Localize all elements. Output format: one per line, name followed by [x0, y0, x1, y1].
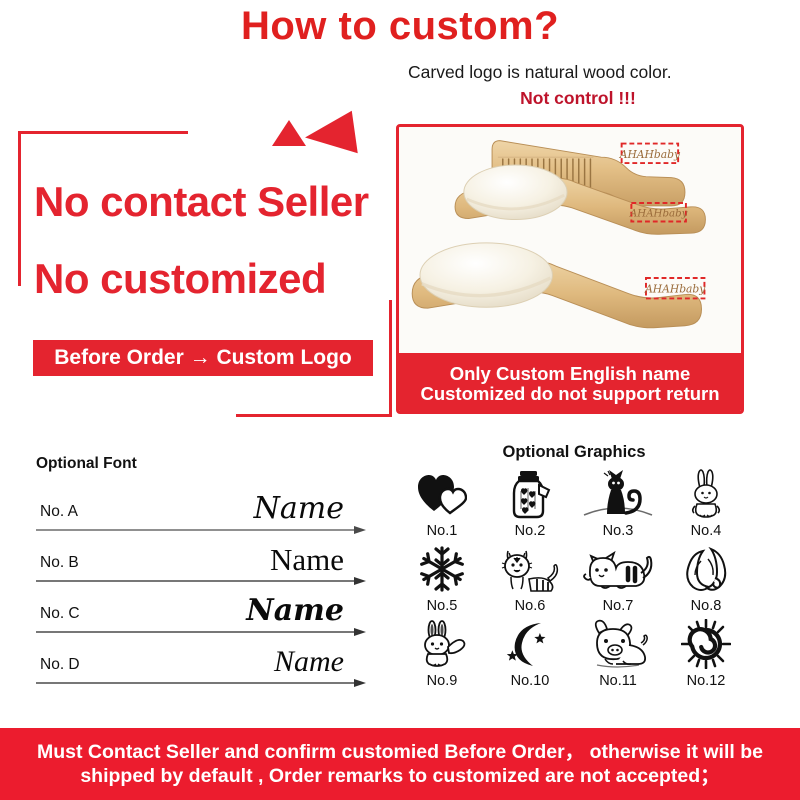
- footer-line-1: Must Contact Seller and confirm customie…: [37, 740, 763, 764]
- product-caption-bar: Only Custom English name Customized do n…: [396, 353, 744, 414]
- graphic-option-label: No.1: [427, 523, 458, 539]
- snowflake-icon: [418, 541, 466, 597]
- graphic-option[interactable]: No.9: [398, 616, 486, 689]
- graphic-option[interactable]: No.6: [486, 541, 574, 614]
- graphic-option-label: No.7: [603, 598, 634, 614]
- graphic-option[interactable]: No.12: [662, 616, 750, 689]
- product-photo: AHAHbaby AHAHbaby AHAHbaby: [399, 127, 741, 353]
- caption-line-2: Customized do not support return: [420, 384, 719, 404]
- font-option-sample: Name: [274, 647, 366, 679]
- page-title: How to custom?: [0, 4, 800, 49]
- graphic-option[interactable]: No.5: [398, 541, 486, 614]
- spiral-sun-icon: [681, 616, 731, 672]
- font-option-label: No. A: [36, 503, 78, 526]
- bunny-waving-icon: [416, 616, 468, 672]
- graphic-option-label: No.2: [515, 523, 546, 539]
- before-order-custom-logo-bar: Before Order → Custom Logo: [33, 340, 373, 376]
- graphic-option-label: No.6: [515, 598, 546, 614]
- triangle-left-icon: [302, 111, 357, 161]
- footer-warning-banner: Must Contact Seller and confirm customie…: [0, 728, 800, 800]
- comb-engraving: AHAHbaby: [619, 148, 681, 161]
- not-control-warning: Not control !!!: [408, 88, 748, 109]
- graphic-option-label: No.12: [687, 673, 726, 689]
- graphic-option[interactable]: No.8: [662, 541, 750, 614]
- lying-cat-icon: [581, 541, 655, 597]
- bracket-left-stem: [18, 131, 21, 286]
- large-brush-engraving: AHAHbaby: [644, 283, 706, 296]
- angel-wings-icon: [681, 541, 731, 597]
- optional-font-section: Optional Font No. A Name No. B Name No. …: [36, 455, 366, 679]
- graphic-option-label: No.11: [599, 673, 637, 689]
- slogan-no-customized: No customized: [34, 255, 326, 303]
- caption-line-1: Only Custom English name: [450, 364, 691, 384]
- standing-rabbit-icon: [684, 466, 728, 522]
- product-photo-panel: AHAHbaby AHAHbaby AHAHbaby Only Custom E…: [396, 124, 744, 414]
- tiger-icon: [501, 541, 559, 597]
- graphics-grid: No.1: [398, 466, 750, 689]
- optional-graphics-section: Optional Graphics No.1: [398, 443, 750, 689]
- font-option-label: No. C: [36, 605, 80, 628]
- piglet-icon: [585, 616, 651, 672]
- graphic-option-label: No.4: [691, 523, 722, 539]
- font-option-sample: Name: [270, 544, 366, 577]
- crescent-moon-star-icon: [503, 616, 557, 672]
- font-option-row[interactable]: No. C Name: [36, 577, 366, 628]
- font-option-label: No. B: [36, 554, 79, 577]
- graphic-option-label: No.5: [427, 598, 458, 614]
- heart-jar-icon: [508, 466, 552, 522]
- font-option-row[interactable]: No. A Name: [36, 475, 366, 526]
- graphic-option[interactable]: No.10: [486, 616, 574, 689]
- font-option-row[interactable]: No. D Name: [36, 628, 366, 679]
- graphic-option[interactable]: No.4: [662, 466, 750, 539]
- graphic-option-label: No.8: [691, 598, 722, 614]
- carved-logo-note: Carved logo is natural wood color.: [408, 62, 748, 83]
- optional-graphics-title: Optional Graphics: [398, 443, 750, 462]
- graphic-option-label: No.10: [511, 673, 550, 689]
- graphic-option[interactable]: No.2: [486, 466, 574, 539]
- graphic-option[interactable]: No.3: [574, 466, 662, 539]
- font-option-sample: Name: [246, 596, 366, 628]
- footer-line-2: shipped by default , Order remarks to cu…: [80, 764, 719, 788]
- font-option-label: No. D: [36, 656, 80, 679]
- double-hearts-icon: [417, 466, 467, 522]
- slogan-no-contact-seller: No contact Seller: [34, 178, 369, 226]
- font-option-row[interactable]: No. B Name: [36, 526, 366, 577]
- graphic-option[interactable]: No.1: [398, 466, 486, 539]
- black-cat-icon: [582, 466, 654, 522]
- graphic-option-label: No.9: [427, 673, 458, 689]
- graphic-option[interactable]: No.11: [574, 616, 662, 689]
- product-illustration: AHAHbaby AHAHbaby AHAHbaby: [399, 127, 741, 353]
- font-option-sample: Name: [254, 494, 366, 526]
- triangle-up-icon: [272, 120, 306, 146]
- graphic-option-label: No.3: [603, 523, 634, 539]
- graphic-option[interactable]: No.7: [574, 541, 662, 614]
- small-brush-engraving: AHAHbaby: [629, 209, 688, 220]
- optional-font-title: Optional Font: [36, 455, 366, 473]
